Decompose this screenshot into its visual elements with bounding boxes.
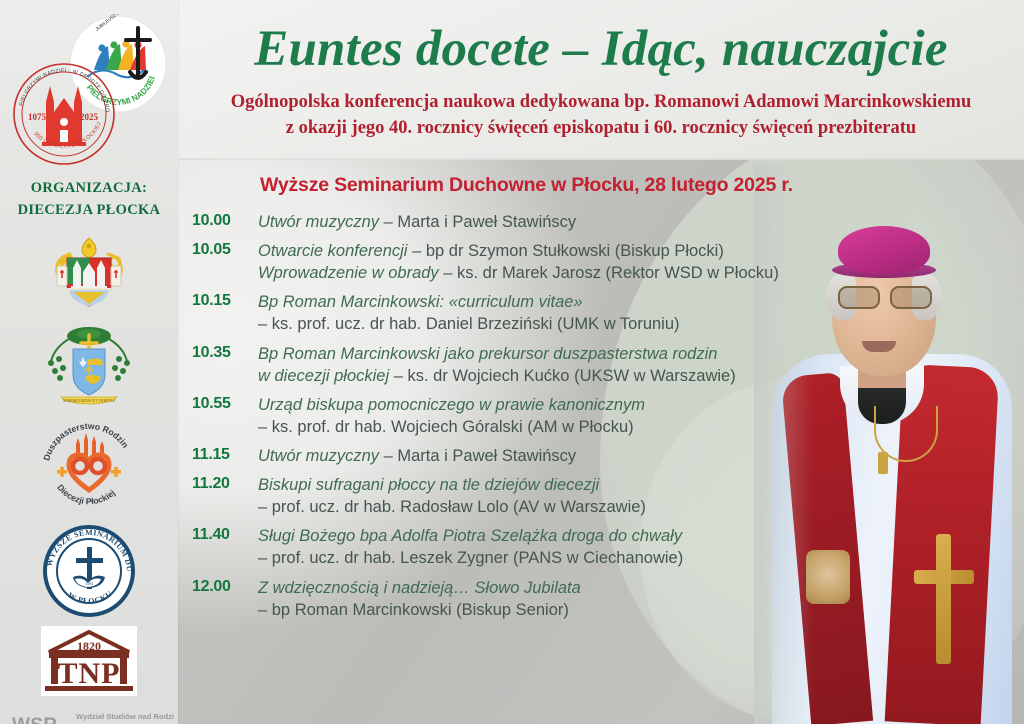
schedule-entry-line: Sługi Bożego bpa Adolfa Piotra Szelążka … [258,525,1024,547]
schedule-entry-speaker: – ks. prof. ucz. dr hab. Daniel Brzezińs… [258,315,680,333]
schedule-entry-title: Bp Roman Marcinkowski jako prekursor dus… [258,345,717,363]
schedule-entry-line: Wprowadzenie w obrady – ks. dr Marek Jar… [258,262,1024,284]
schedule-entry-line: – prof. ucz. dr hab. Leszek Zygner (PANS… [258,547,1024,569]
schedule-entry: Biskupi sufragani płoccy na tle dziejów … [258,474,1024,518]
schedule-entry-line: Z wdzięcznością i nadzieją… Słowo Jubila… [258,577,1024,599]
family-ministry-logo: Duszpasterstwo Rodzin Diecezji Płockiej [0,418,178,516]
schedule-entry-title: Otwarcie konferencji [258,242,407,260]
schedule-entry-title: Utwór muzyczny [258,447,379,465]
svg-text:2025: 2025 [80,112,99,122]
schedule-entry-title: Sługi Bożego bpa Adolfa Piotra Szelążka … [258,527,682,545]
schedule-entry-speaker: – ks. prof. dr hab. Wojciech Góralski (A… [258,418,634,436]
svg-text:1075: 1075 [28,112,47,122]
header-text-block: Euntes docete – Idąc, nauczajcie Ogólnop… [178,0,1024,160]
schedule-entry: Urząd biskupa pomocniczego w prawie kano… [258,394,1024,438]
schedule-entry-speaker: – ks. dr Marek Jarosz (Rektor WSD w Płoc… [439,264,779,282]
schedule-time: 10.55 [178,394,258,438]
schedule-time: 11.15 [178,445,258,467]
schedule-row: 11.20Biskupi sufragani płoccy na tle dzi… [178,474,1024,518]
schedule-entry-line: Bp Roman Marcinkowski: «curriculum vitae… [258,291,1024,313]
schedule-entry-line: Bp Roman Marcinkowski jako prekursor dus… [258,343,1024,365]
schedule-entry-speaker: – prof. ucz. dr hab. Leszek Zygner (PANS… [258,549,683,567]
schedule-time: 10.05 [178,240,258,284]
page-subtitle: Ogólnopolska konferencja naukowa dedykow… [178,89,1024,142]
schedule-entry-line: w diecezji płockiej – ks. dr Wojciech Ku… [258,365,1024,387]
organizer-heading-line-2: DIECEZJA PŁOCKA [0,200,178,222]
schedule-time: 11.40 [178,525,258,569]
schedule-entry-title: Biskupi sufragani płoccy na tle dziejów … [258,476,599,494]
schedule-entry-line: Biskupi sufragani płoccy na tle dziejów … [258,474,1024,496]
schedule-entry: Z wdzięcznością i nadzieją… Słowo Jubila… [258,577,1024,621]
schedule-entry-speaker: – ks. dr Wojciech Kućko (UKSW w Warszawi… [389,367,736,385]
schedule-entry-line: – prof. ucz. dr hab. Radosław Lolo (AV w… [258,496,1024,518]
schedule-time: 10.00 [178,211,258,233]
schedule-row: 10.00Utwór muzyczny – Marta i Paweł Staw… [178,211,1024,233]
conference-poster: Euntes docete – Idąc, nauczajcie Ogólnop… [0,0,1024,724]
schedule-entry: Utwór muzyczny – Marta i Paweł Stawińscy [258,211,1024,233]
schedule-time: 10.35 [178,343,258,387]
schedule-entry-line: Utwór muzyczny – Marta i Paweł Stawińscy [258,445,1024,467]
sidebar-top-logos: JUBILEUSZ 2025 PIELGRZYMI NADZIEI [0,0,178,160]
schedule-entry: Bp Roman Marcinkowski jako prekursor dus… [258,343,1024,387]
subtitle-line-1: Ogólnopolska konferencja naukowa dedykow… [188,89,1014,115]
schedule-entry-line: – ks. prof. ucz. dr hab. Daniel Brzezińs… [258,313,1024,335]
svg-text:1820: 1820 [77,639,101,653]
schedule-entry-speaker: – prof. ucz. dr hab. Radosław Lolo (AV w… [258,498,646,516]
venue-and-date: Wyższe Seminarium Duchowne w Płocku, 28 … [260,174,1024,197]
svg-text:WSR: WSR [12,715,58,724]
schedule-row: 11.40Sługi Bożego bpa Adolfa Piotra Szel… [178,525,1024,569]
schedule-row: 10.35Bp Roman Marcinkowski jako prekurso… [178,343,1024,387]
svg-text:TNP: TNP [58,657,121,690]
schedule-entry: Utwór muzyczny – Marta i Paweł Stawińscy [258,445,1024,467]
schedule-entry-title: w diecezji płockiej [258,367,389,385]
schedule-entry-title: Urząd biskupa pomocniczego w prawie kano… [258,396,645,414]
schedule-entry-title: Utwór muzyczny [258,213,379,231]
uksw-wsr-logo: WSR UKSW Wydział Studiów nad Rodziną UNI… [0,705,178,724]
tnp-logo: 1820 TNP [0,626,178,696]
schedule-row: 10.05Otwarcie konferencji – bp dr Szymon… [178,240,1024,284]
sidebar-logo-column: ORGANIZACJA: DIECEZJA PŁOCKA [0,160,178,724]
schedule-entry-title: Bp Roman Marcinkowski: «curriculum vitae… [258,293,583,311]
svg-text:1594: 1594 [85,581,93,586]
schedule-entry-title: Z wdzięcznością i nadzieją… Słowo Jubila… [258,579,581,597]
schedule-entry-speaker: – Marta i Paweł Stawińscy [379,447,576,465]
schedule-entry-line: – bp Roman Marcinkowski (Biskup Senior) [258,599,1024,621]
schedule-entry-line: Utwór muzyczny – Marta i Paweł Stawińscy [258,211,1024,233]
plock-cathedral-anniversary-logo: 1075 2025 PIELGRZYMI NADZIEI · W DRODZE … [12,62,116,166]
schedule-list: 10.00Utwór muzyczny – Marta i Paweł Staw… [178,211,1024,621]
main-content: Wyższe Seminarium Duchowne w Płocku, 28 … [178,160,1024,724]
schedule-entry-title: Wprowadzenie w obrady [258,264,439,282]
schedule-entry-line: Otwarcie konferencji – bp dr Szymon Stuł… [258,240,1024,262]
schedule-entry: Otwarcie konferencji – bp dr Szymon Stuł… [258,240,1024,284]
schedule-row: 12.00Z wdzięcznością i nadzieją… Słowo J… [178,577,1024,621]
schedule-entry: Sługi Bożego bpa Adolfa Piotra Szelążka … [258,525,1024,569]
schedule-row: 11.15Utwór muzyczny – Marta i Paweł Staw… [178,445,1024,467]
schedule-row: 10.55Urząd biskupa pomocniczego w prawie… [178,394,1024,438]
schedule-time: 12.00 [178,577,258,621]
svg-text:MISERICORDIA ET VERITAS: MISERICORDIA ET VERITAS [63,398,115,403]
schedule-entry-speaker: – bp Roman Marcinkowski (Biskup Senior) [258,601,569,619]
schedule-time: 10.15 [178,291,258,335]
schedule-entry-line: Urząd biskupa pomocniczego w prawie kano… [258,394,1024,416]
subtitle-line-2: z okazji jego 40. rocznicy święceń episk… [188,115,1014,141]
schedule-row: 10.15Bp Roman Marcinkowski: «curriculum … [178,291,1024,335]
schedule-time: 11.20 [178,474,258,518]
diocese-of-plock-coat-of-arms [0,232,178,314]
schedule-entry-speaker: – bp dr Szymon Stułkowski (Biskup Płocki… [407,242,723,260]
organizer-heading: ORGANIZACJA: DIECEZJA PŁOCKA [0,178,178,222]
svg-text:Wydział Studiów nad Rodziną: Wydział Studiów nad Rodziną [76,712,174,721]
schedule-entry-line: – ks. prof. dr hab. Wojciech Góralski (A… [258,416,1024,438]
seminary-seal-logo: WYŻSZE SEMINARIUM DUCHOWNE W PŁOCKU 1594 [0,525,178,617]
organizer-heading-line-1: ORGANIZACJA: [0,178,178,200]
bishop-coat-of-arms: MISERICORDIA ET VERITAS [0,323,178,409]
schedule-entry: Bp Roman Marcinkowski: «curriculum vitae… [258,291,1024,335]
schedule-entry-speaker: – Marta i Paweł Stawińscy [379,213,576,231]
sidebar: JUBILEUSZ 2025 PIELGRZYMI NADZIEI [0,0,178,724]
page-title: Euntes docete – Idąc, nauczajcie [178,0,1024,75]
